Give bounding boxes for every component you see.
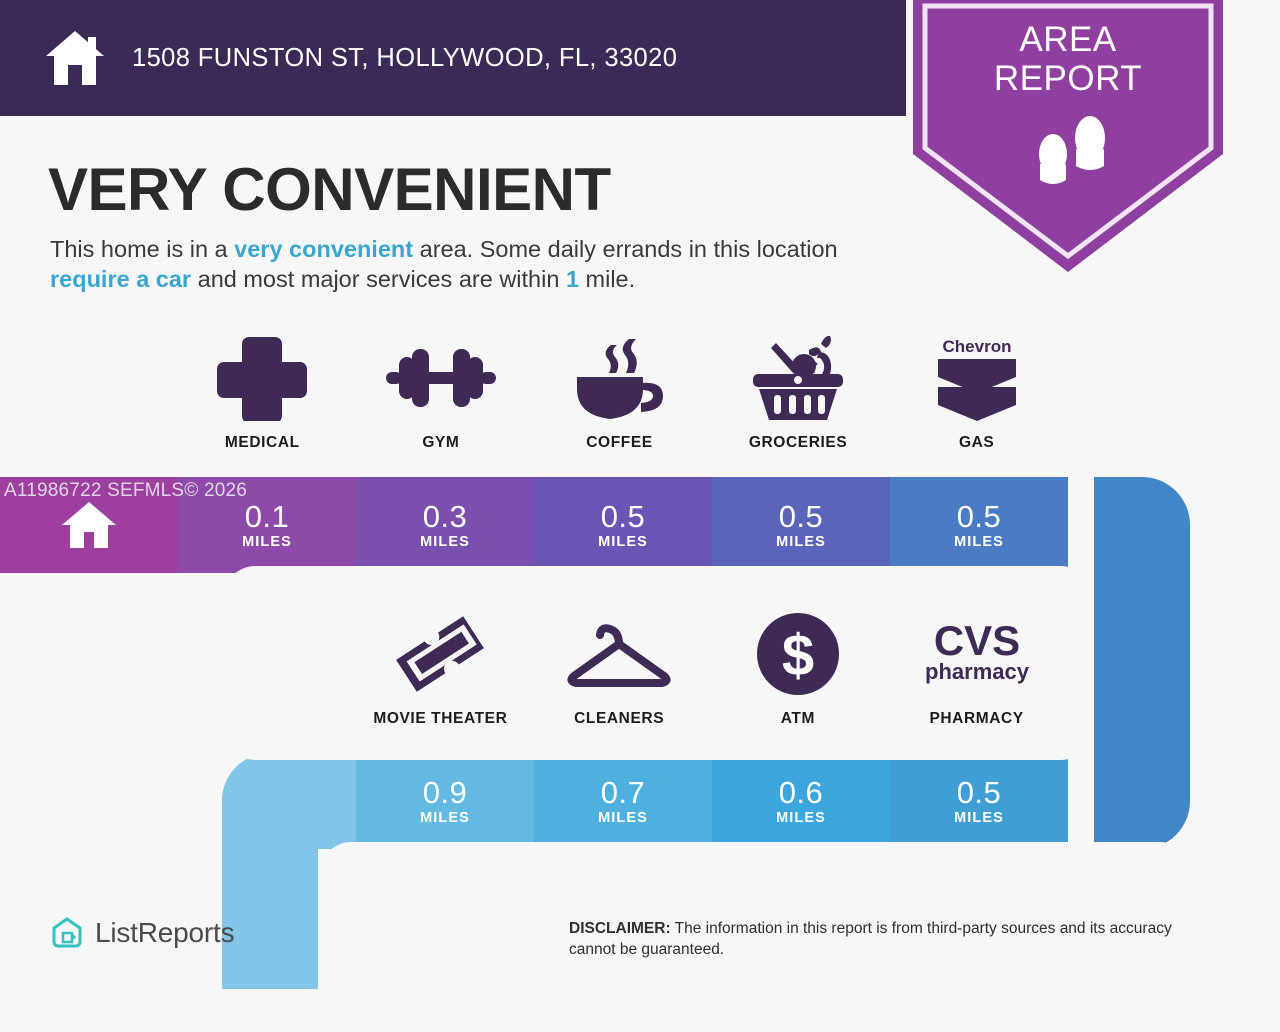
distance-seg-lead	[222, 753, 356, 849]
distance-value: 0.5	[601, 500, 646, 533]
distance-unit: MILES	[776, 810, 826, 826]
disclaimer: DISCLAIMER: The information in this repo…	[569, 918, 1219, 960]
distance-unit: MILES	[954, 534, 1004, 550]
property-address: 1508 FUNSTON ST, HOLLYWOOD, FL, 33020	[132, 44, 677, 73]
icon-art: CVS pharmacy	[915, 612, 1039, 696]
grocery-basket-icon	[749, 334, 847, 422]
amenity-label: MOVIE THEATER	[373, 710, 507, 728]
distance-value: 0.5	[957, 500, 1002, 533]
dumbbell-icon	[386, 343, 496, 413]
amenity-gas: Chevron GAS	[887, 336, 1066, 452]
distance-seg-coffee: 0.5 MILES	[534, 477, 712, 573]
amenity-icon-row-2: MOVIE THEATER CLEANERS $ ATM	[351, 612, 1066, 728]
icon-art	[749, 336, 847, 420]
badge-shape	[913, 0, 1223, 274]
page-title: VERY CONVENIENT	[48, 155, 611, 224]
distance-unit: MILES	[242, 534, 292, 550]
amenity-label: GROCERIES	[749, 434, 847, 452]
amenity-label: GYM	[422, 434, 459, 452]
amenity-icon-row-1: MEDICAL GYM	[173, 336, 1066, 452]
amenity-pharmacy: CVS pharmacy PHARMACY	[887, 612, 1066, 728]
cvs-pharmacy-icon: CVS pharmacy	[915, 617, 1039, 691]
summary-text: This home is in a very convenient area. …	[50, 234, 910, 294]
amenity-medical: MEDICAL	[173, 336, 352, 452]
icon-art: $	[756, 612, 840, 696]
distance-seg-atm: 0.6 MILES	[712, 753, 890, 849]
distance-unit: MILES	[420, 534, 470, 550]
amenity-label: CLEANERS	[574, 710, 664, 728]
dollar-circle-icon: $	[756, 612, 840, 696]
distance-unit: MILES	[954, 810, 1004, 826]
clothes-hanger-icon	[564, 614, 674, 694]
distance-seg-cleaners: 0.7 MILES	[534, 753, 712, 849]
distance-unit: MILES	[598, 810, 648, 826]
amenity-label: COFFEE	[586, 434, 652, 452]
area-report-page: 0.1 MILES 0.3 MILES 0.5 MILES 0.5 MILES …	[0, 0, 1280, 989]
summary-highlight-1: very convenient	[234, 236, 413, 262]
distance-value: 0.3	[423, 500, 468, 533]
amenity-label: MEDICAL	[225, 434, 300, 452]
amenity-atm: $ ATM	[709, 612, 888, 728]
distance-seg-gas: 0.5 MILES	[890, 477, 1068, 573]
amenity-gym: GYM	[352, 336, 531, 452]
distance-seg-pharmacy: 0.5 MILES	[890, 753, 1068, 849]
distance-value: 0.5	[957, 776, 1002, 809]
distance-value: 0.6	[779, 776, 824, 809]
pharmacy-brand-line-1: CVS	[933, 617, 1019, 664]
summary-part-1: This home is in a	[50, 236, 234, 262]
icon-art	[571, 336, 667, 420]
gas-brand-text: Chevron	[942, 337, 1011, 356]
amenity-coffee: COFFEE	[530, 336, 709, 452]
svg-text:$: $	[782, 623, 814, 688]
amenity-label: GAS	[959, 434, 994, 452]
disclaimer-label: DISCLAIMER:	[569, 920, 671, 937]
amenity-label: PHARMACY	[929, 710, 1023, 728]
mls-watermark: A11986722 SEFMLS© 2026	[4, 480, 247, 502]
summary-part-3: and most major services are within	[191, 266, 566, 292]
distance-seg-movie-theater: 0.9 MILES	[356, 753, 534, 849]
icon-art: Chevron	[932, 336, 1022, 420]
summary-part-4: mile.	[579, 266, 635, 292]
amenity-movie-theater: MOVIE THEATER	[351, 612, 530, 728]
distance-value: 0.7	[601, 776, 646, 809]
summary-part-2: area. Some daily errands in this locatio…	[413, 236, 838, 262]
icon-art	[394, 612, 486, 696]
amenity-groceries: GROCERIES	[709, 336, 888, 452]
coffee-cup-icon	[571, 335, 667, 421]
header-bar: 1508 FUNSTON ST, HOLLYWOOD, FL, 33020	[0, 0, 906, 116]
distance-unit: MILES	[598, 534, 648, 550]
icon-art	[564, 612, 674, 696]
summary-highlight-2: require a car	[50, 266, 191, 292]
distance-seg-gym: 0.3 MILES	[356, 477, 534, 573]
distance-value: 0.5	[779, 500, 824, 533]
distance-value: 0.9	[423, 776, 468, 809]
brand-name: ListReports	[95, 917, 234, 949]
summary-highlight-3: 1	[566, 266, 579, 292]
movie-ticket-icon	[394, 611, 486, 697]
home-icon	[60, 500, 118, 550]
pharmacy-brand-line-2: pharmacy	[925, 659, 1030, 684]
amenity-label: ATM	[781, 710, 815, 728]
amenity-cleaners: CLEANERS	[530, 612, 709, 728]
icon-art	[216, 336, 308, 420]
icon-art	[386, 336, 496, 420]
distance-value: 0.1	[245, 500, 290, 533]
area-report-badge: AREA REPORT	[913, 0, 1223, 274]
listreports-logo-icon	[50, 916, 84, 950]
chevron-logo-icon: Chevron	[932, 335, 1022, 421]
distance-bar-row-2: 0.9 MILES 0.7 MILES 0.6 MILES 0.5 MILES	[222, 753, 1190, 849]
distance-seg-groceries: 0.5 MILES	[712, 477, 890, 573]
home-icon	[44, 29, 106, 87]
distance-unit: MILES	[776, 534, 826, 550]
medical-cross-icon	[216, 335, 308, 421]
distance-unit: MILES	[420, 810, 470, 826]
listreports-brand: ListReports	[50, 916, 234, 950]
